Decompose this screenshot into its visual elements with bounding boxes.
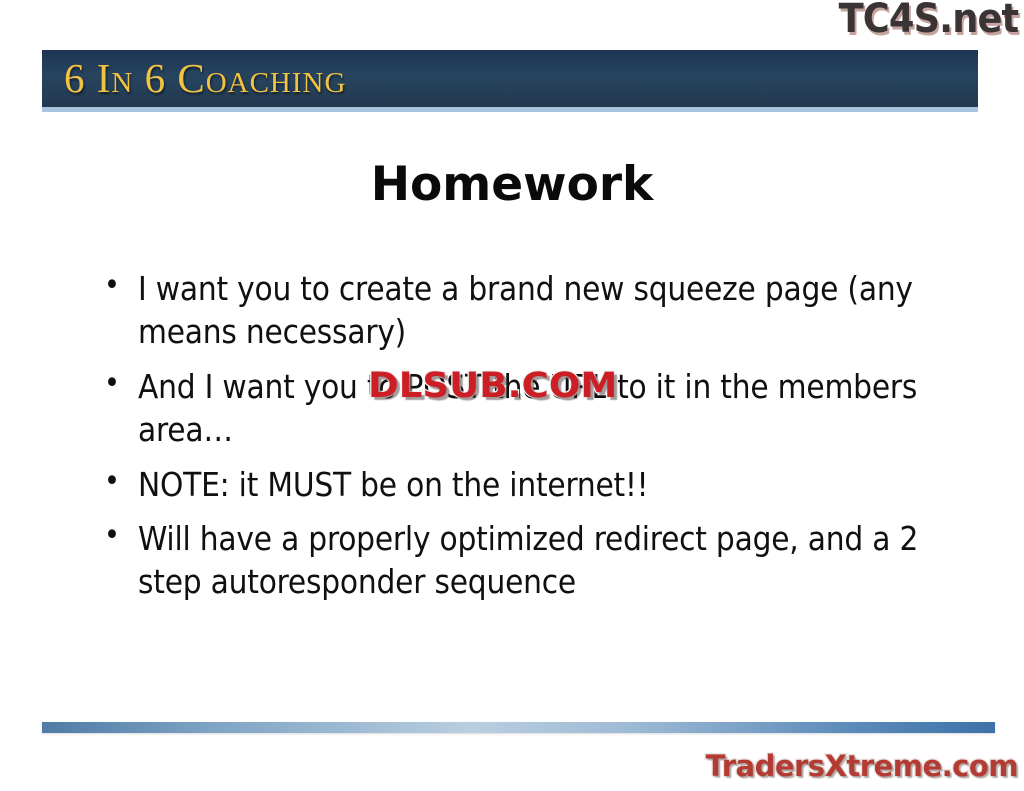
bullet-list: I want you to create a brand new squeeze… [96, 268, 956, 616]
list-item: Will have a properly optimized redirect … [96, 518, 956, 604]
page-title: Homework [0, 157, 1024, 212]
overlay-watermark: DLSUB.COM [368, 366, 617, 406]
brand-watermark: TradersXtreme.com [706, 749, 1018, 783]
footer-divider-bar [42, 722, 995, 733]
list-item: I want you to create a brand new squeeze… [96, 268, 956, 354]
list-item: NOTE: it MUST be on the internet!! [96, 464, 956, 507]
header-banner: 6 In 6 Coaching [42, 50, 978, 112]
site-watermark: TC4S.net [838, 0, 1018, 40]
presentation-slide: TC4S.net 6 In 6 Coaching Homework I want… [0, 0, 1024, 791]
banner-title: 6 In 6 Coaching [64, 54, 346, 102]
